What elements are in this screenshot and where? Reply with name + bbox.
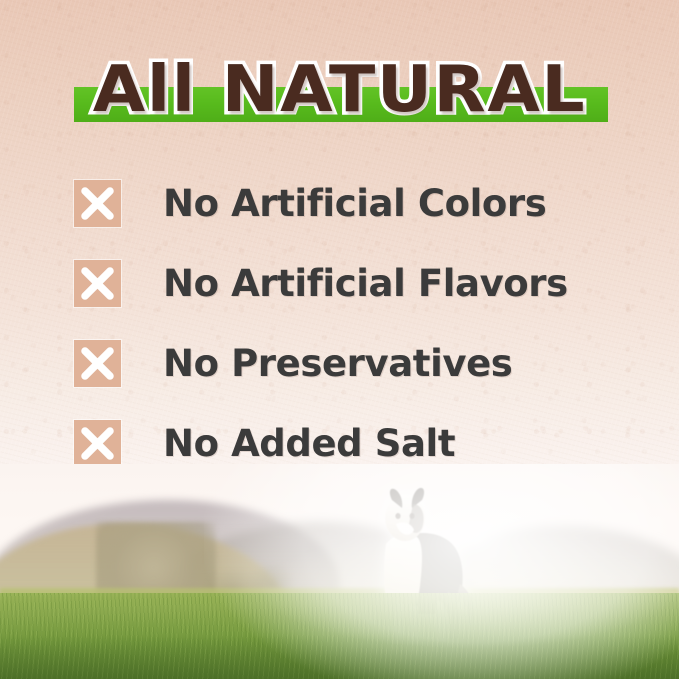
sun-haze (204, 464, 679, 679)
x-mark-icon (74, 420, 121, 467)
product-claims-poster: All NATURAL No Artificial Colors (0, 0, 679, 679)
x-mark-icon (74, 340, 121, 387)
page-title: All NATURAL (0, 44, 679, 136)
lifestyle-photo (0, 464, 679, 679)
list-item: No Added Salt (74, 418, 634, 469)
list-item: No Preservatives (74, 338, 634, 389)
list-item: No Artificial Flavors (74, 258, 634, 309)
claim-label: No Artificial Colors (163, 182, 546, 225)
claim-label: No Preservatives (163, 342, 512, 385)
headline-block: All NATURAL (0, 44, 679, 136)
claim-label: No Added Salt (163, 422, 455, 465)
claims-list: No Artificial Colors No Artificial Flavo… (74, 178, 634, 498)
claim-label: No Artificial Flavors (163, 262, 568, 305)
x-mark-icon (74, 260, 121, 307)
x-mark-icon (74, 180, 121, 227)
list-item: No Artificial Colors (74, 178, 634, 229)
